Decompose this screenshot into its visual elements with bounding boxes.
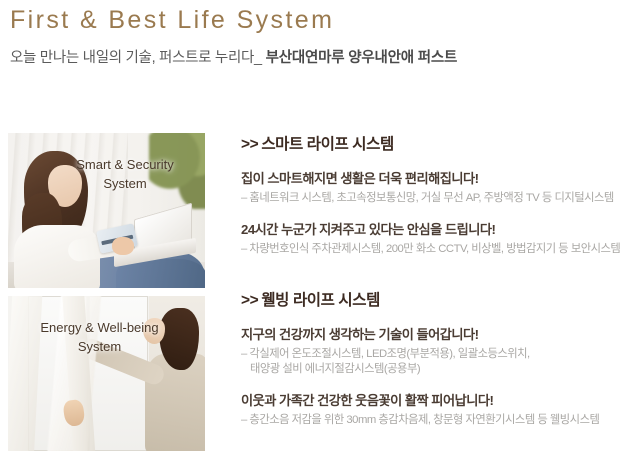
- photo-energy-wellbeing-label: Energy & Well-being System: [12, 318, 187, 356]
- content-column: >>스마트 라이프 시스템 집이 스마트해지면 생활은 더욱 편리해집니다! –…: [241, 132, 630, 441]
- section-1-item-2-lead: 24시간 누군가 지켜주고 있다는 안심을 드립니다!: [241, 219, 630, 238]
- photo-label-line2: System: [12, 337, 187, 356]
- section-2-item-1-lead: 지구의 건강까지 생각하는 기술이 들어갑니다!: [241, 324, 630, 343]
- section-1-item-2-detail: – 차량번호인식 주차관제시스템, 200만 화소 CCTV, 비상벨, 방법감…: [241, 242, 630, 257]
- subtitle-project-name: 부산대연마루 양우내안애 퍼스트: [266, 50, 458, 66]
- section-heading-wellbeing-life: >>웰빙 라이프 시스템: [241, 288, 630, 310]
- section-2-item-2-detail: – 층간소음 저감을 위한 30mm 층감차음제, 창문형 자연환기시스템 등 …: [241, 413, 630, 428]
- photo-label-line2: System: [50, 174, 200, 193]
- detail-text: – 각실제어 온도조절시스템, LED조명(부분적용), 일괄소등스위치,: [241, 348, 530, 360]
- detail-text: – 층간소음 저감을 위한 30mm 층감차음제, 창문형 자연환기시스템 등 …: [241, 414, 599, 426]
- promo-page: First & Best Life System 오늘 만나는 내일의 기술, …: [0, 0, 630, 461]
- section-2-item-2-lead: 이웃과 가족간 건강한 웃음꽃이 활짝 피어납니다!: [241, 390, 630, 409]
- detail-text: – 홈네트워크 시스템, 초고속정보통신망, 거실 무선 AP, 주방액정 TV…: [241, 192, 614, 204]
- section-1-item-1-lead: 집이 스마트해지면 생활은 더욱 편리해집니다!: [241, 168, 630, 187]
- detail-text: – 차량번호인식 주차관제시스템, 200만 화소 CCTV, 비상벨, 방법감…: [241, 243, 620, 255]
- section-1-item-1-detail: – 홈네트워크 시스템, 초고속정보통신망, 거실 무선 AP, 주방액정 TV…: [241, 191, 630, 206]
- photo-energy-wellbeing: Energy & Well-being System: [8, 296, 205, 451]
- photo-smart-security: Smart & Security System: [8, 133, 205, 288]
- chevron-double-right-icon: >>: [241, 292, 258, 309]
- section-heading-smart-life: >>스마트 라이프 시스템: [241, 132, 630, 154]
- section-2-item-1-detail: – 각실제어 온도조절시스템, LED조명(부분적용), 일괄소등스위치, 태양…: [241, 347, 630, 377]
- detail-text-continued: 태양광 설비 에너지절감시스템(공용부): [241, 362, 630, 377]
- chevron-double-right-icon: >>: [241, 136, 258, 153]
- section-heading-wellbeing-life-text: 웰빙 라이프 시스템: [261, 292, 380, 309]
- section-heading-smart-life-text: 스마트 라이프 시스템: [261, 136, 394, 153]
- subtitle-normal-text: 오늘 만나는 내일의 기술, 퍼스트로 누리다_: [10, 50, 262, 66]
- page-title: First & Best Life System: [10, 6, 334, 35]
- page-subtitle: 오늘 만나는 내일의 기술, 퍼스트로 누리다_ 부산대연마루 양우내안애 퍼스…: [10, 46, 457, 67]
- photo-label-line1: Smart & Security: [50, 155, 200, 174]
- photo-smart-security-label: Smart & Security System: [50, 155, 200, 193]
- photo-label-line1: Energy & Well-being: [12, 318, 187, 337]
